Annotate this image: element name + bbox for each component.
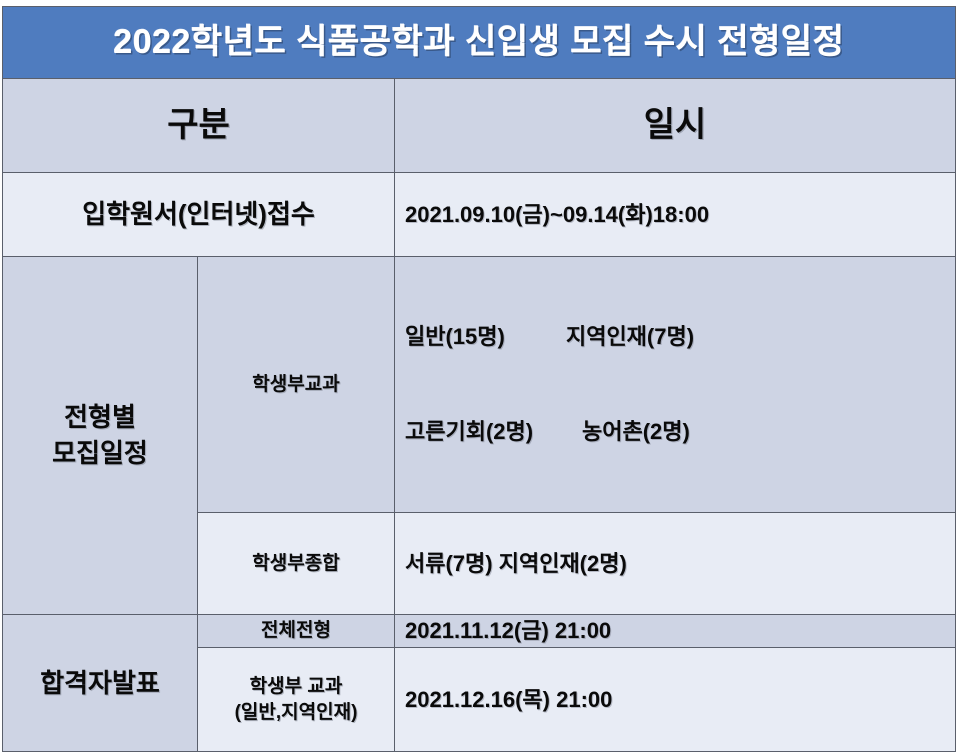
row-subcategory-school-record-subject-general: 학생부 교과 (일반,지역인재) — [198, 648, 395, 752]
value-text-group: 일반(15명) 지역인재(7명) 고른기회(2명) 농어촌(2명) — [405, 257, 945, 512]
value-text: 서류(7명) 지역인재(2명) — [405, 548, 945, 580]
category-label: 입학원서(인터넷)접수 — [13, 197, 384, 232]
column-header-datetime-label: 일시 — [405, 107, 945, 144]
table-row: 합격자발표 전체전형 2021.11.12(금) 21:00 — [3, 615, 956, 648]
row-value-application: 2021.09.10(금)~09.14(화)18:00 — [395, 173, 956, 257]
admissions-schedule-table: 2022학년도 식품공학과 신입생 모집 수시 전형일정 구분 일시 입학원서(… — [2, 6, 956, 752]
row-category-admission-schedule: 전형별 모집일정 — [3, 257, 198, 615]
row-category-application: 입학원서(인터넷)접수 — [3, 173, 395, 257]
subcategory-label-group: 학생부 교과 (일반,지역인재) — [208, 674, 384, 725]
row-subcategory-school-record-subject: 학생부교과 — [198, 257, 395, 513]
row-value-school-record-subject: 일반(15명) 지역인재(7명) 고른기회(2명) 농어촌(2명) — [395, 257, 956, 513]
row-value-all-types: 2021.11.12(금) 21:00 — [395, 615, 956, 648]
banner-title-cell: 2022학년도 식품공학과 신입생 모집 수시 전형일정 — [3, 7, 956, 79]
value-line1: 일반(15명) 지역인재(7명) — [405, 321, 945, 353]
row-subcategory-school-record-comprehensive: 학생부종합 — [198, 513, 395, 615]
screenshot-root: 2022학년도 식품공학과 신입생 모집 수시 전형일정 구분 일시 입학원서(… — [0, 0, 960, 674]
row-category-result-announcement: 합격자발표 — [3, 615, 198, 752]
row-subcategory-all-types: 전체전형 — [198, 615, 395, 648]
page-title: 2022학년도 식품공학과 신입생 모집 수시 전형일정 — [13, 25, 945, 61]
subcategory-label: 전체전형 — [208, 618, 384, 644]
table-row: 입학원서(인터넷)접수 2021.09.10(금)~09.14(화)18:00 — [3, 173, 956, 257]
column-header-category: 구분 — [3, 79, 395, 173]
table-row: 전형별 모집일정 학생부교과 일반(15명) 지역인재(7명) 고른기회(2명)… — [3, 257, 956, 513]
column-header-row: 구분 일시 — [3, 79, 956, 173]
column-header-category-label: 구분 — [13, 107, 384, 144]
category-label: 합격자발표 — [13, 666, 187, 701]
category-label-line2: 모집일정 — [13, 436, 187, 471]
subcategory-label: 학생부종합 — [208, 551, 384, 577]
category-label-line1: 전형별 — [13, 400, 187, 435]
value-text: 2021.09.10(금)~09.14(화)18:00 — [405, 199, 945, 231]
row-value-school-record-subject-general: 2021.12.16(목) 21:00 — [395, 648, 956, 752]
column-header-datetime: 일시 — [395, 79, 956, 173]
value-text: 2021.11.12(금) 21:00 — [405, 615, 945, 647]
subcategory-label: 학생부교과 — [208, 372, 384, 398]
value-line2: 고른기회(2명) 농어촌(2명) — [405, 416, 945, 448]
row-value-school-record-comprehensive: 서류(7명) 지역인재(2명) — [395, 513, 956, 615]
table-title-row: 2022학년도 식품공학과 신입생 모집 수시 전형일정 — [3, 7, 956, 79]
subcategory-label-line2: (일반,지역인재) — [208, 700, 384, 726]
category-label-group: 전형별 모집일정 — [13, 400, 187, 470]
subcategory-label-line1: 학생부 교과 — [208, 674, 384, 700]
value-text: 2021.12.16(목) 21:00 — [405, 684, 945, 716]
